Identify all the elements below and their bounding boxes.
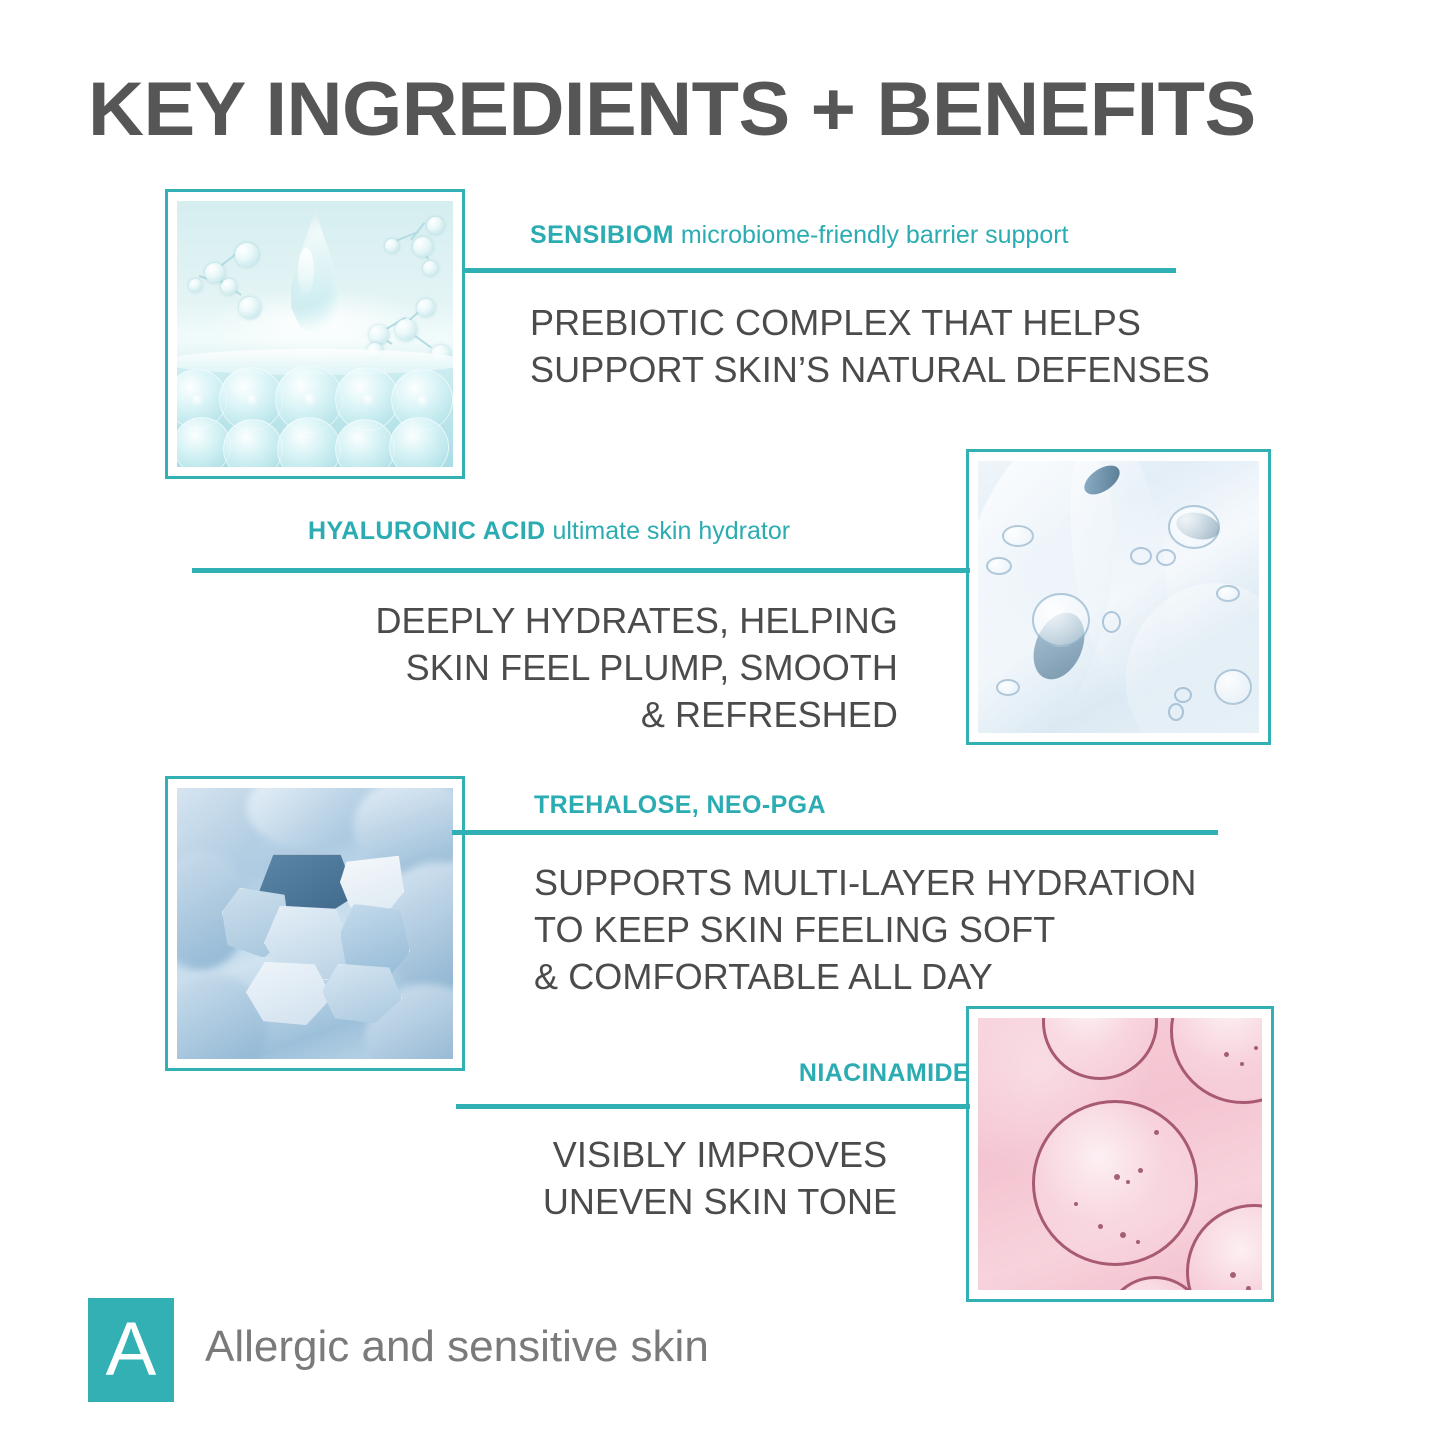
ingredient-descriptor: ultimate skin hydrator: [552, 517, 790, 545]
molecule-icon: [191, 235, 291, 335]
pink-bubbles-illustration: [978, 1018, 1262, 1290]
divider-rule-trehalose: [452, 830, 1218, 835]
polyhedron-illustration: [177, 788, 453, 1059]
ingredient-image-niacinamide: [966, 1006, 1274, 1302]
ingredient-image-hyaluronic-acid: [966, 449, 1271, 745]
droplet-illustration: [177, 201, 453, 467]
page-title: KEY INGREDIENTS + BENEFITS: [88, 66, 1383, 153]
allergy-badge-text: Allergic and sensitive skin: [205, 1322, 709, 1372]
allergy-badge: A: [88, 1298, 174, 1402]
faceted-sphere-icon: [222, 854, 408, 1026]
ingredient-name: HYALURONIC ACID: [308, 517, 546, 545]
ingredient-name: SENSIBIOM: [530, 221, 674, 249]
gel-texture-illustration: [978, 461, 1259, 733]
allergy-badge-letter: A: [88, 1298, 174, 1402]
ingredient-benefit-sensibiom: PREBIOTIC COMPLEX THAT HELPS SUPPORT SKI…: [530, 300, 1290, 394]
ingredient-benefit-trehalose: SUPPORTS MULTI-LAYER HYDRATION TO KEEP S…: [534, 860, 1294, 1000]
ingredient-benefit-hyaluronic-acid: DEEPLY HYDRATES, HELPING SKIN FEEL PLUMP…: [190, 598, 898, 738]
molecule-icon: [375, 217, 453, 287]
ingredient-name: TREHALOSE, NEO-PGA: [534, 791, 826, 819]
divider-rule-hyaluronic-acid: [192, 568, 970, 573]
divider-rule-niacinamide: [456, 1104, 970, 1109]
ingredient-image-sensibiom: [165, 189, 465, 479]
ingredient-name: NIACINAMIDE: [799, 1059, 970, 1087]
ingredient-heading-niacinamide: NIACINAMIDE: [560, 1060, 970, 1088]
infographic-canvas: KEY INGREDIENTS + BENEFITS: [0, 0, 1445, 1445]
ingredient-benefit-niacinamide: VISIBLY IMPROVES UNEVEN SKIN TONE: [470, 1132, 970, 1226]
skin-cell-bubbles: [177, 361, 453, 467]
ingredient-image-trehalose: [165, 776, 465, 1071]
ingredient-heading-trehalose: TREHALOSE, NEO-PGA: [534, 792, 1234, 820]
ingredient-descriptor: microbiome-friendly barrier support: [681, 221, 1069, 249]
ingredient-heading-sensibiom: SENSIBIOM microbiome-friendly barrier su…: [530, 222, 1210, 250]
divider-rule-sensibiom: [462, 268, 1176, 273]
ingredient-heading-hyaluronic-acid: HYALURONIC ACID ultimate skin hydrator: [308, 518, 1008, 546]
